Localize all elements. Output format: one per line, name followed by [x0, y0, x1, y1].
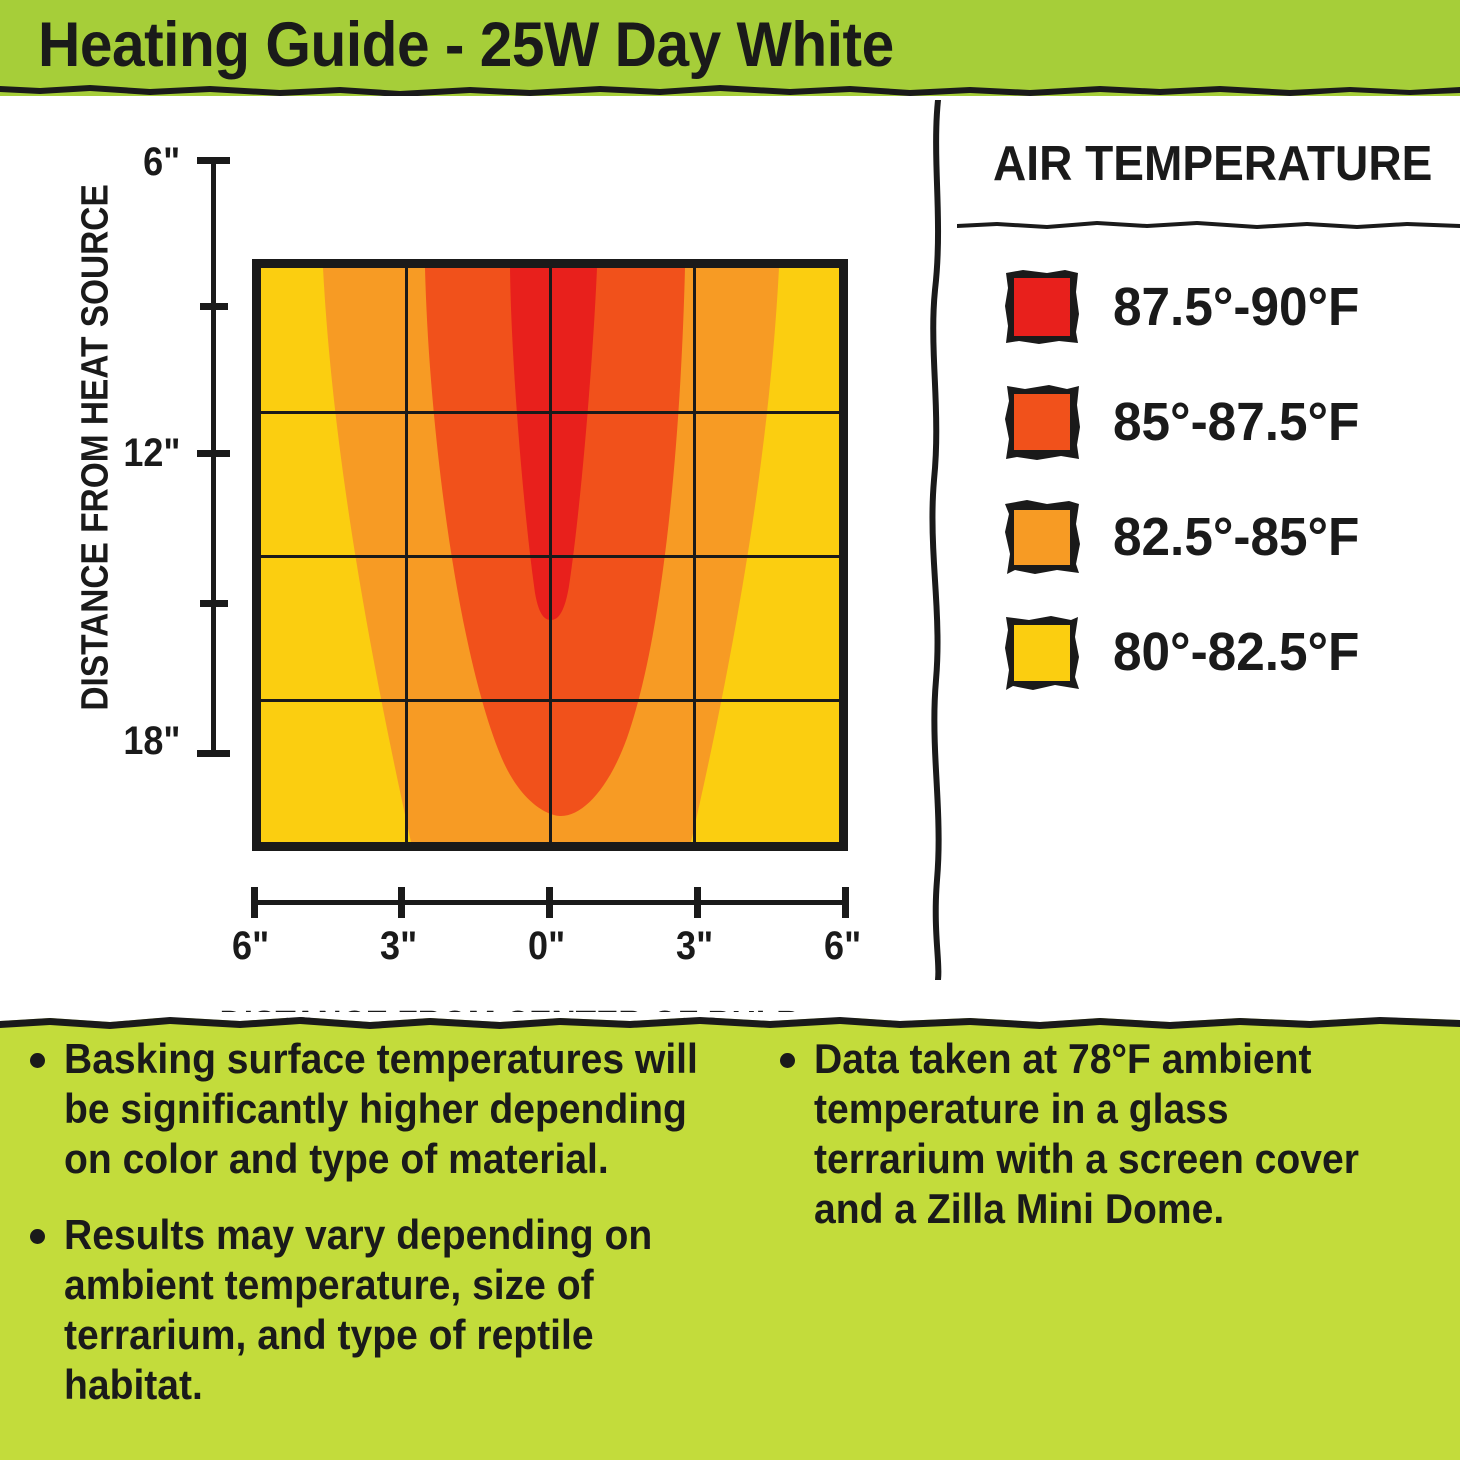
bullet-dot-icon [30, 1053, 45, 1068]
legend-title: AIR TEMPERATURE [965, 136, 1460, 192]
legend-item-80-82-5[interactable]: 80°-82.5°F [957, 605, 1460, 720]
legend-label-orange-red: 85°-87.5°F [1113, 379, 1372, 465]
x-tick-label-left-6: 6" [191, 924, 311, 968]
legend-items: 87.5°-90°F 85°-87.5°F [957, 260, 1460, 720]
legend-label-yellow: 80°-82.5°F [1113, 609, 1372, 695]
footer-column-left: Basking surface temperatures will be sig… [22, 1034, 762, 1436]
page-title: Heating Guide - 25W Day White [38, 2, 894, 88]
footer-banner: Basking surface temperatures will be sig… [0, 1018, 1460, 1460]
legend-label-red: 87.5°-90°F [1113, 264, 1372, 350]
chart-section: DISTANCE FROM HEAT SOURCE 6" 12" 18" [0, 96, 1460, 1018]
y-axis-rule [196, 154, 230, 760]
legend-divider [957, 218, 1460, 232]
footer-column-right: Data taken at 78°F ambient temperature i… [772, 1034, 1452, 1260]
legend-swatch-yellow [1003, 613, 1081, 691]
footer-columns: Basking surface temperatures will be sig… [0, 1034, 1460, 1454]
bullet-dot-icon [780, 1053, 795, 1068]
y-tick-label-6: 6" [30, 142, 180, 182]
footer-bullet-left-1: Basking surface temperatures will be sig… [22, 1034, 762, 1184]
bullet-dot-icon [30, 1229, 45, 1244]
section-divider [915, 100, 957, 980]
heatmap-plot [252, 259, 848, 851]
legend-label-orange: 82.5°-85°F [1113, 494, 1372, 580]
x-tick-label-right-3: 3" [635, 924, 755, 968]
legend-item-85-87-5[interactable]: 85°-87.5°F [957, 375, 1460, 490]
legend-title-text: AIR TEMPERATURE [993, 136, 1432, 192]
y-tick-label-12: 12" [30, 433, 180, 473]
x-axis-rule [248, 886, 852, 918]
legend-swatch-red [1003, 268, 1081, 346]
legend-swatch-orange [1003, 498, 1081, 576]
legend-swatch-orange-red [1003, 383, 1081, 461]
heating-guide-page: Heating Guide - 25W Day White DISTANCE F… [0, 0, 1460, 1460]
x-tick-label-left-3: 3" [339, 924, 459, 968]
plot-border [252, 259, 848, 851]
y-tick-label-18: 18" [30, 721, 180, 761]
footer-bullet-left-2: Results may vary depending on ambient te… [22, 1210, 762, 1410]
legend-item-87-5-90[interactable]: 87.5°-90°F [957, 260, 1460, 375]
x-tick-label-center-0: 0" [487, 924, 607, 968]
legend-item-82-5-85[interactable]: 82.5°-85°F [957, 490, 1460, 605]
header-banner: Heating Guide - 25W Day White [0, 0, 1460, 96]
legend: AIR TEMPERATURE 87.5°-90°F [957, 96, 1460, 996]
footer-rough-edge [0, 1012, 1460, 1030]
footer-bullet-right-1: Data taken at 78°F ambient temperature i… [772, 1034, 1452, 1234]
x-tick-label-right-6: 6" [783, 924, 903, 968]
